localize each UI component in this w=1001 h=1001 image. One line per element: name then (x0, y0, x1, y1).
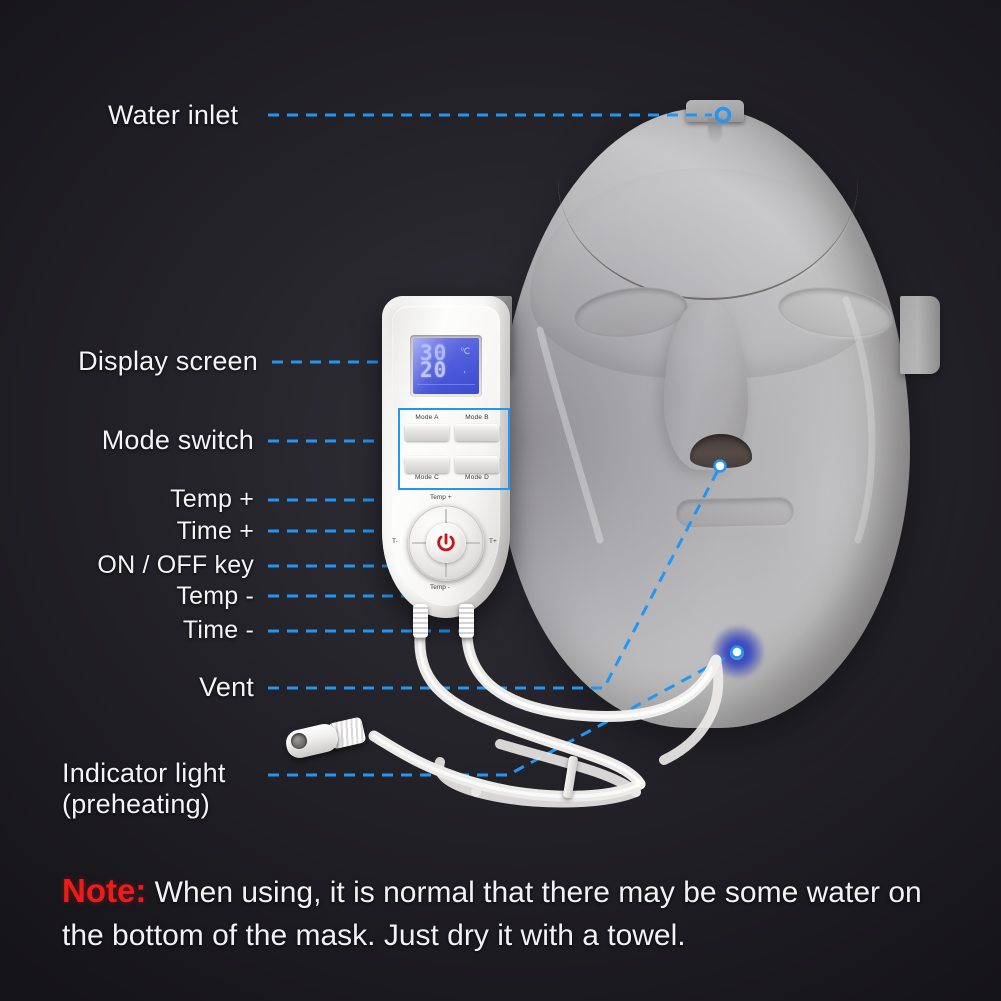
product-photo: 30 ℃ 20 ’ Mode A Mode B Mode C Mode D (0, 0, 1001, 1001)
cable-strain-relief-right (459, 604, 474, 638)
display-time-unit: ’ (462, 370, 467, 379)
mode-d-button[interactable] (455, 456, 499, 473)
mode-d-label: Mode D (455, 474, 499, 481)
power-icon (426, 523, 466, 563)
mode-c-button[interactable] (405, 456, 449, 473)
mode-a-button[interactable] (405, 424, 449, 441)
dpad-right-label: T+ (489, 538, 497, 545)
dpad-left-label: T- (392, 538, 398, 545)
mode-b-button[interactable] (455, 424, 499, 441)
display-screen[interactable]: 30 ℃ 20 ’ (413, 338, 479, 394)
display-time-value: 20 (420, 358, 447, 382)
mode-b-label: Mode B (455, 414, 499, 421)
dpad-down-label: Temp - (430, 584, 450, 591)
display-temperature-unit: ℃ (460, 347, 470, 357)
mode-c-label: Mode C (405, 474, 449, 481)
mode-a-label: Mode A (405, 414, 449, 421)
cable-strain-relief-left (413, 604, 428, 638)
display-baseline (417, 384, 475, 385)
product-annotation-diagram: 30 ℃ 20 ’ Mode A Mode B Mode C Mode D (0, 0, 1001, 1001)
dpad-up-label: Temp + (430, 494, 452, 501)
